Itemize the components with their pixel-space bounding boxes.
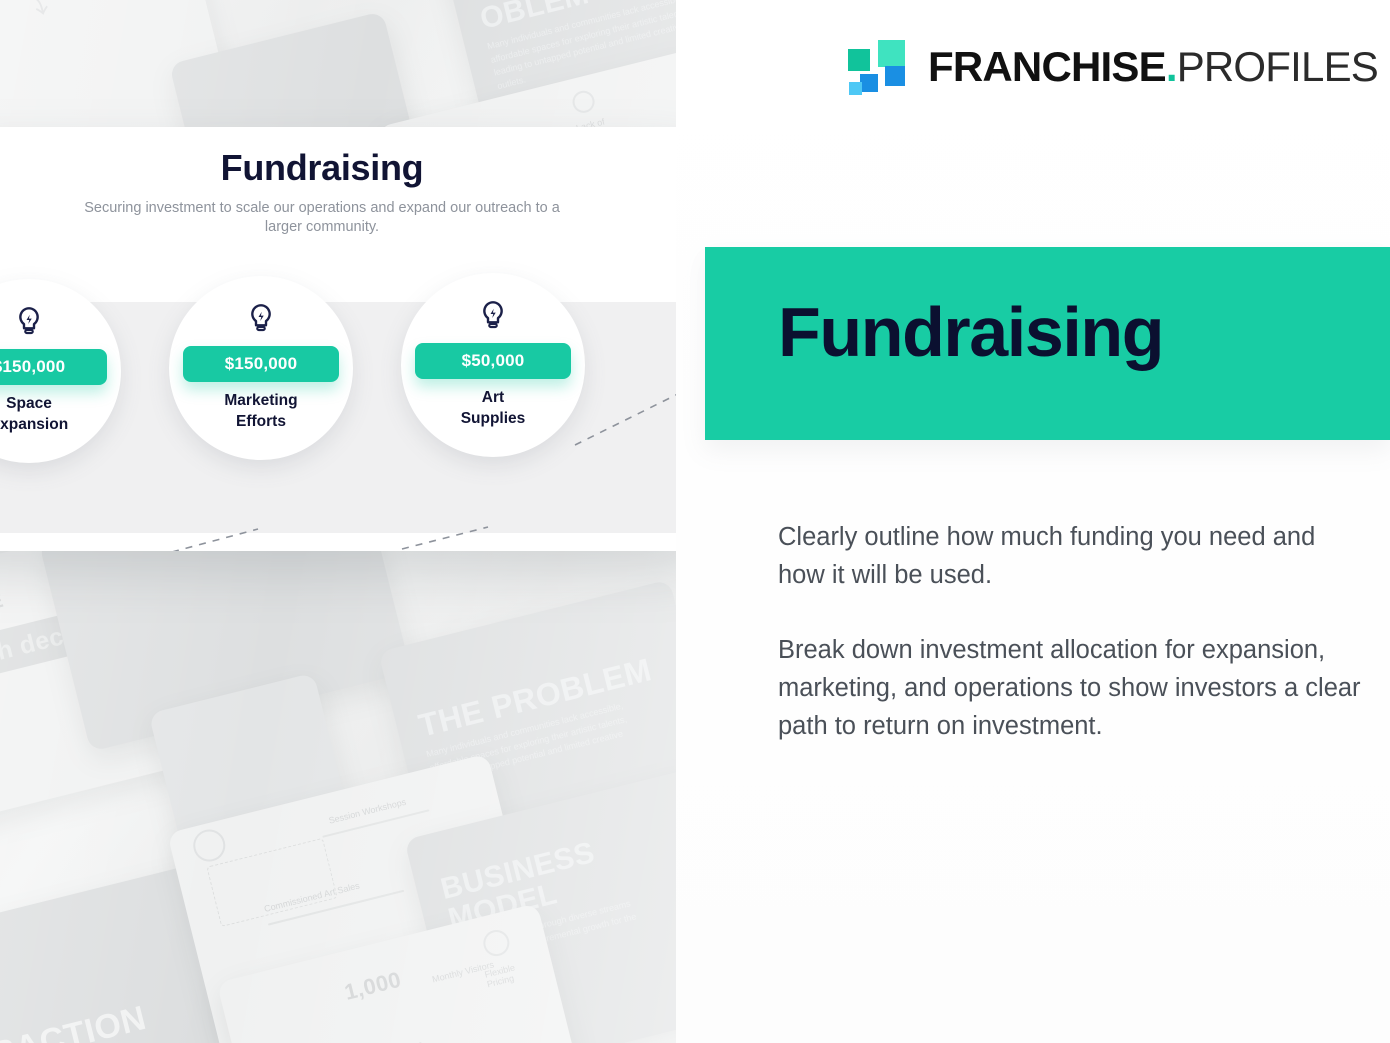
background-item-label: Session Workshops — [328, 797, 407, 826]
card-subtitle: Securing investment to scale our operati… — [77, 199, 567, 237]
funding-amount-pill: $150,000 — [183, 346, 339, 382]
lightbulb-icon — [478, 299, 508, 333]
doc-icon — [570, 88, 597, 115]
right-content-column: FRANCHISE.PROFILES Fundraising Clearly o… — [676, 0, 1390, 1043]
slide-preview-page: KET spaces in urban and is substantial ⤵… — [0, 0, 1390, 1043]
metric-label: Workshops — [378, 1039, 424, 1043]
description-paragraph-1: Clearly outline how much funding you nee… — [778, 518, 1363, 595]
funding-node-marketing-efforts[interactable]: $150,000 Marketing Efforts — [169, 276, 353, 460]
logo-squares-icon — [848, 38, 908, 96]
description-paragraph-2: Break down investment allocation for exp… — [778, 631, 1363, 746]
price-tag-icon — [481, 927, 513, 959]
funding-amount-pill: $50,000 — [415, 343, 571, 379]
funding-amount-pill: $150,000 — [0, 349, 107, 385]
lightbulb-icon — [14, 305, 44, 339]
logo-wordmark: FRANCHISE.PROFILES — [928, 43, 1378, 91]
funding-node-art-supplies[interactable]: $50,000 Art Supplies — [401, 273, 585, 457]
section-heading: Fundraising — [778, 297, 1163, 367]
section-banner: Fundraising — [705, 247, 1390, 440]
funding-node-label: Art Supplies — [401, 388, 585, 429]
card-title: Fundraising — [0, 147, 704, 189]
funding-node-space-expansion[interactable]: $150,000 Space Expansion — [0, 279, 121, 463]
logo-bold-text: FRANCHISE — [928, 43, 1166, 90]
logo-dot: . — [1166, 43, 1177, 90]
lightbulb-icon — [246, 302, 276, 336]
funding-node-label: Space Expansion — [0, 394, 121, 435]
funding-node-label: Marketing Efforts — [169, 391, 353, 432]
funding-nodes: $150,000 Space Expansion $150,000 Market… — [0, 279, 704, 489]
brand-logo[interactable]: FRANCHISE.PROFILES — [848, 38, 1378, 96]
metric-value: 1,000 — [342, 969, 403, 1005]
coin-icon — [190, 826, 229, 865]
curved-arrow-icon: ⤵ — [17, 0, 51, 25]
logo-light-text: PROFILES — [1177, 43, 1378, 90]
slide-card[interactable]: Fundraising Securing investment to scale… — [0, 127, 704, 551]
section-description: Clearly outline how much funding you nee… — [778, 518, 1363, 745]
